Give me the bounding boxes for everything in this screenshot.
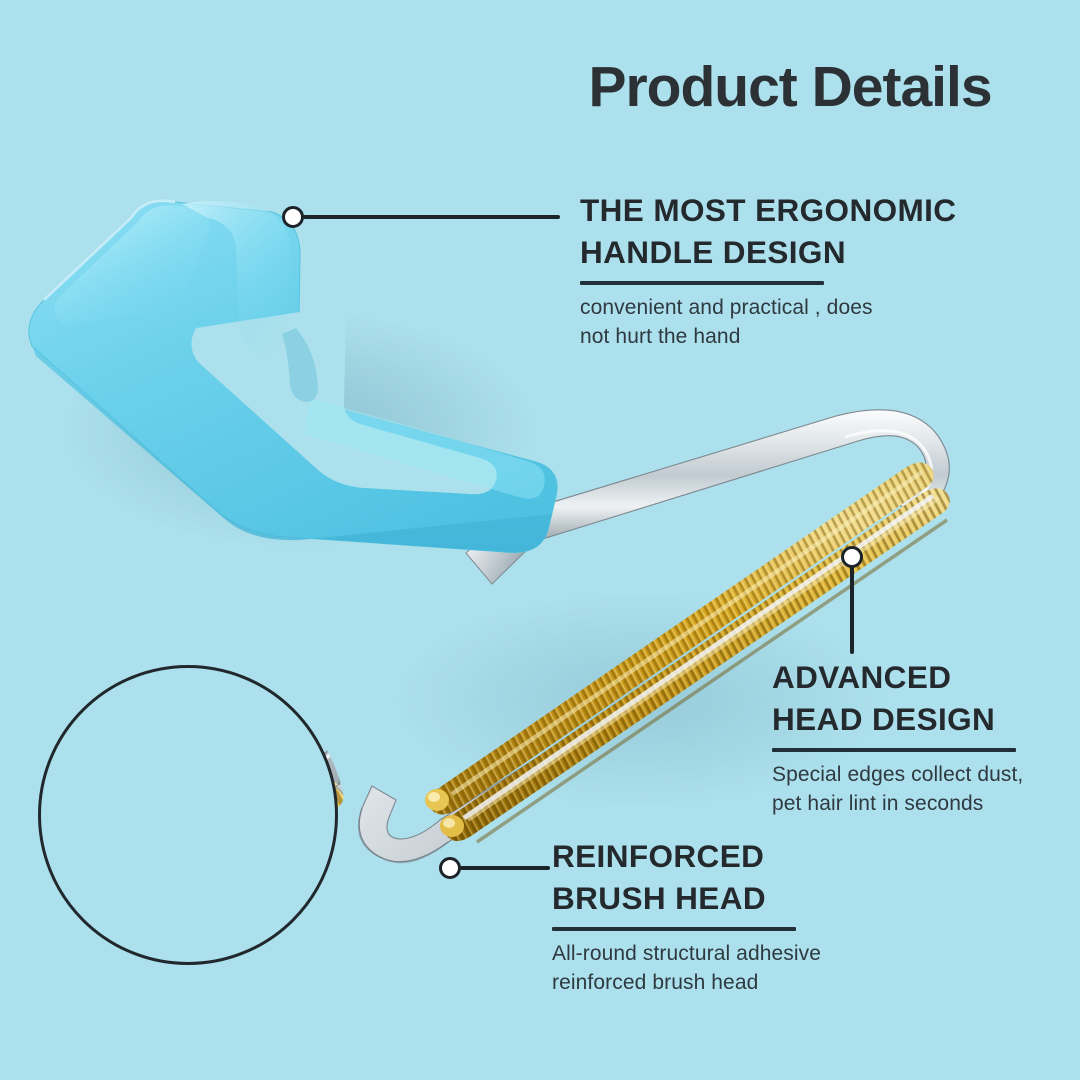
callout-head: ADVANCED HEAD DESIGN Special edges colle…	[772, 657, 1080, 819]
leader-line-head	[850, 566, 854, 654]
callout-marker-head[interactable]	[841, 546, 863, 568]
callout-brush-heading: REINFORCED BRUSH HEAD	[552, 836, 952, 920]
callout-head-rule	[772, 748, 1016, 752]
callout-handle: THE MOST ERGONOMIC HANDLE DESIGN conveni…	[580, 190, 1030, 352]
page-title: Product Details	[560, 58, 1020, 118]
callout-head-heading: ADVANCED HEAD DESIGN	[772, 657, 1080, 741]
leader-line-handle	[303, 215, 560, 219]
magnifier-inset-ring	[38, 665, 338, 965]
callout-brush-rule	[552, 927, 796, 931]
callout-brush-body: All-round structural adhesive reinforced…	[552, 940, 952, 998]
leader-line-brush	[460, 866, 550, 870]
callout-handle-body: convenient and practical , does not hurt…	[580, 294, 1030, 352]
callout-handle-rule	[580, 281, 824, 285]
callout-handle-heading: THE MOST ERGONOMIC HANDLE DESIGN	[580, 190, 1030, 274]
callout-marker-handle[interactable]	[282, 206, 304, 228]
callout-marker-brush[interactable]	[439, 857, 461, 879]
callout-brush: REINFORCED BRUSH HEAD All-round structur…	[552, 836, 952, 998]
infographic-canvas: Product Details THE MOST ERGONOMIC HANDL…	[0, 0, 1080, 1080]
callout-head-body: Special edges collect dust, pet hair lin…	[772, 761, 1080, 819]
